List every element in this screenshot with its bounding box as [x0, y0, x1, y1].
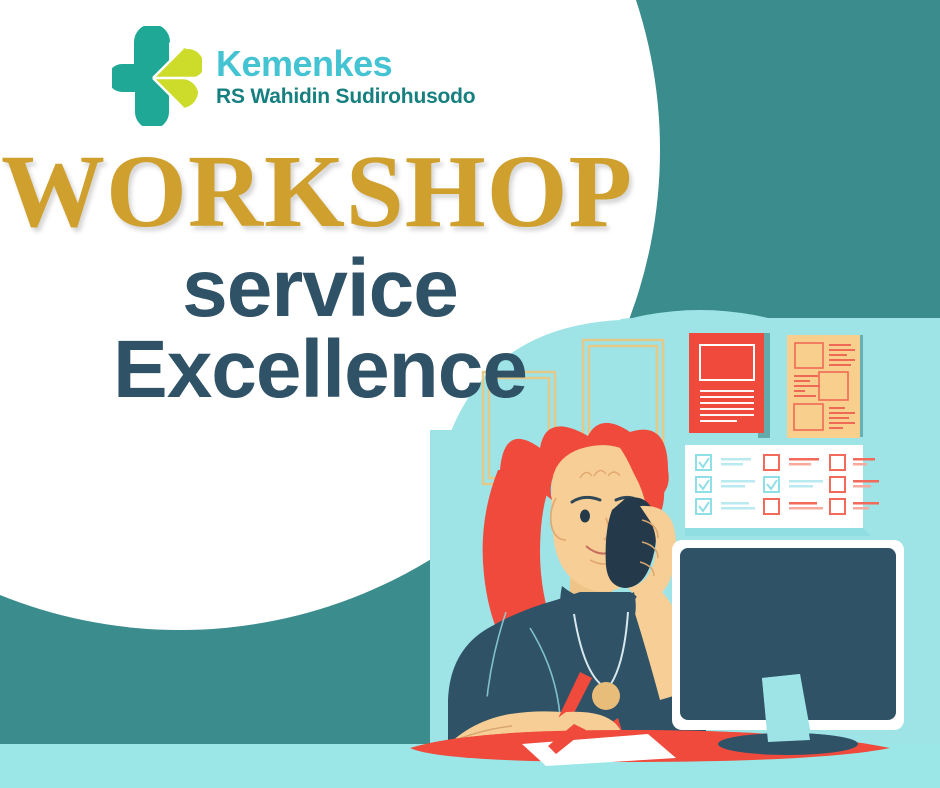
headline-workshop: WORKSHOP [0, 140, 640, 244]
kemenkes-flower-logo [112, 26, 202, 126]
headline-block: WORKSHOP service Excellence [0, 140, 640, 409]
logo-line-kemenkes: Kemenkes [216, 46, 475, 82]
headline-excellence: Excellence [0, 331, 640, 410]
logo-wordmark: Kemenkes RS Wahidin Sudirohusodo [216, 46, 475, 107]
poster-canvas: Kemenkes RS Wahidin Sudirohusodo WORKSHO… [0, 0, 940, 788]
kemenkes-logo: Kemenkes RS Wahidin Sudirohusodo [112, 26, 475, 126]
red-wall-poster [689, 333, 770, 438]
bottom-accent-strip [0, 744, 940, 788]
orange-wall-poster [787, 335, 863, 438]
checklist-board [685, 445, 879, 536]
headline-service: service [0, 250, 640, 329]
logo-line-hospital: RS Wahidin Sudirohusodo [216, 86, 475, 107]
desktop-monitor [672, 540, 904, 757]
